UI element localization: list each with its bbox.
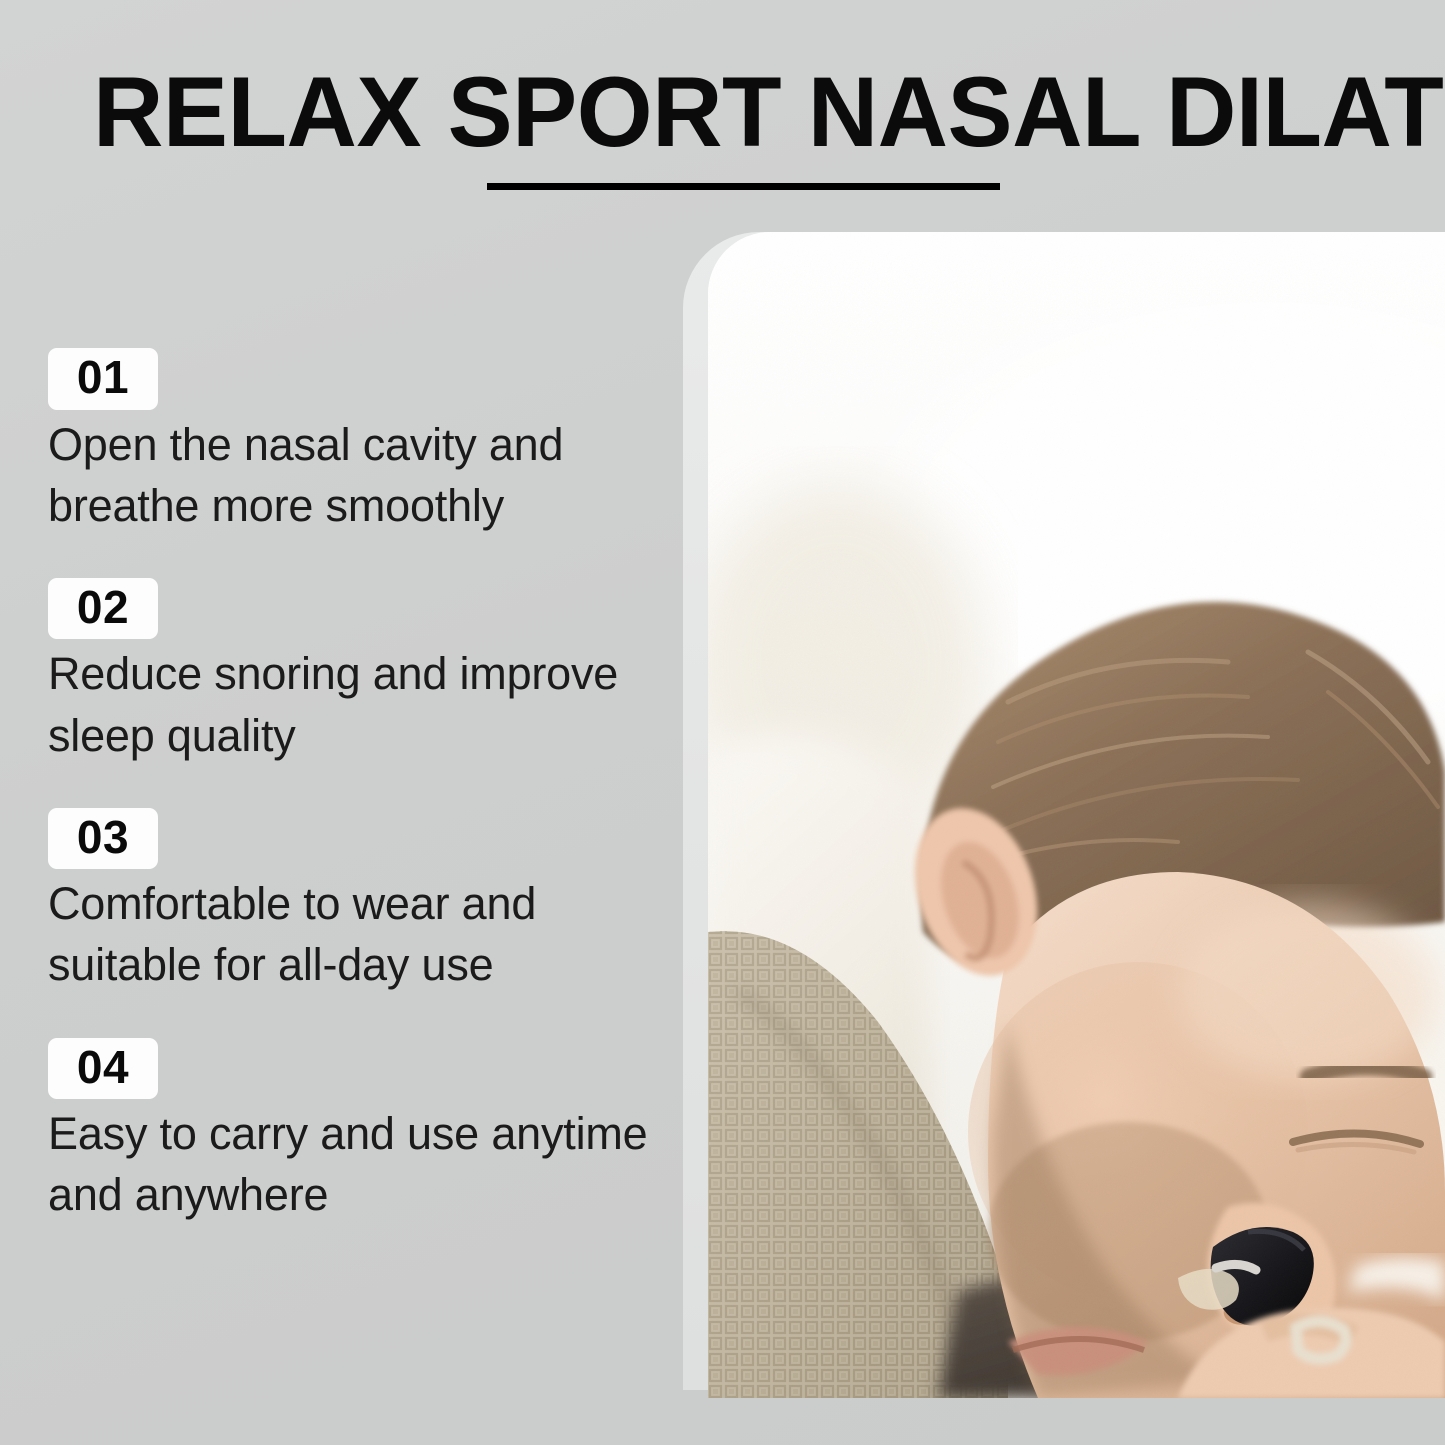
feature-number-badge: 02 — [48, 578, 158, 640]
product-photo-panel — [708, 232, 1445, 1398]
list-item: 04 Easy to carry and use anytime and any… — [48, 1038, 688, 1226]
feature-description: Comfortable to wear and suitable for all… — [48, 873, 688, 995]
feature-number-badge: 01 — [48, 348, 158, 410]
title-underline-rule — [487, 183, 1000, 190]
feature-description: Reduce snoring and improve sleep quality — [48, 643, 688, 765]
infographic-canvas: RELAX SPORT NASAL DILATOR 01 Open the na… — [0, 0, 1445, 1445]
list-item: 01 Open the nasal cavity and breathe mor… — [48, 348, 688, 536]
list-item: 02 Reduce snoring and improve sleep qual… — [48, 578, 688, 766]
feature-description: Open the nasal cavity and breathe more s… — [48, 414, 688, 536]
list-item: 03 Comfortable to wear and suitable for … — [48, 808, 688, 996]
sleeping-man-photo — [708, 232, 1445, 1398]
feature-list: 01 Open the nasal cavity and breathe mor… — [48, 348, 688, 1226]
page-title: RELAX SPORT NASAL DILATOR — [93, 62, 1339, 161]
feature-number-badge: 03 — [48, 808, 158, 870]
feature-description: Easy to carry and use anytime and anywhe… — [48, 1103, 688, 1225]
feature-number-badge: 04 — [48, 1038, 158, 1100]
